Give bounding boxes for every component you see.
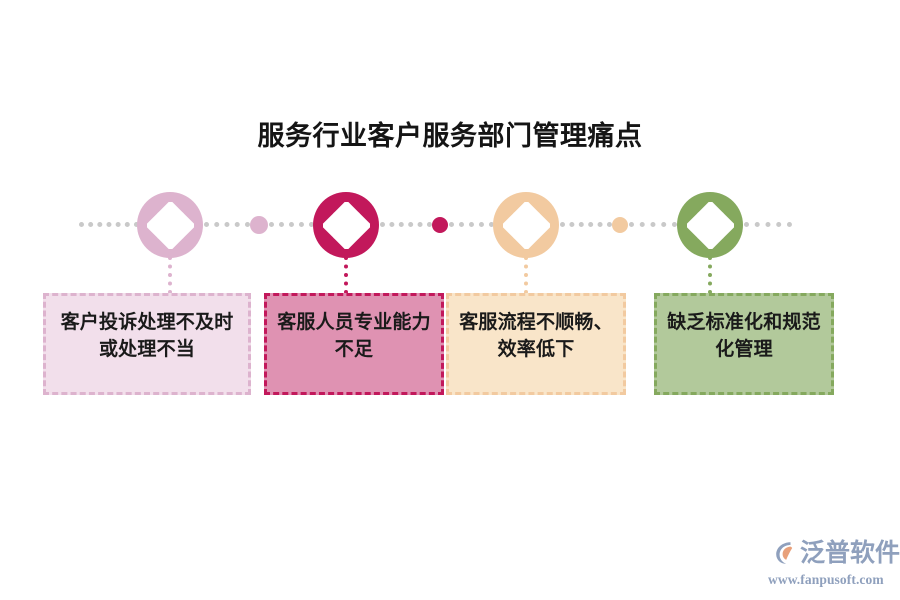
- timeline-connector-dot-1: [250, 216, 268, 234]
- pain-point-card-4[interactable]: 缺乏标准化和规范化管理: [654, 293, 834, 395]
- drop-connector-2: [344, 256, 348, 294]
- drop-connector-3: [524, 256, 528, 294]
- pain-point-label-2: 客服人员专业能力不足: [267, 310, 441, 364]
- timeline-rail-segment: [269, 222, 314, 227]
- timeline-node-4[interactable]: [677, 192, 743, 258]
- brand-url: www.fanpusoft.com: [768, 572, 890, 588]
- drop-connector-1: [168, 256, 172, 294]
- timeline-node-3[interactable]: [493, 192, 559, 258]
- pain-point-card-2[interactable]: 客服人员专业能力不足: [264, 293, 444, 395]
- timeline-rail-segment: [79, 222, 139, 227]
- pain-point-card-3[interactable]: 客服流程不顺畅、效率低下: [446, 293, 626, 395]
- four-diamond-icon: [147, 202, 194, 249]
- brand-logo-row: 泛普软件: [768, 536, 890, 570]
- pain-point-card-1[interactable]: 客户投诉处理不及时或处理不当: [43, 293, 251, 395]
- pain-point-label-4: 缺乏标准化和规范化管理: [657, 310, 831, 364]
- timeline-rail-segment: [560, 222, 612, 227]
- fanpu-c-mark-icon: [768, 538, 798, 568]
- timeline-rail-segment: [449, 222, 494, 227]
- brand-wordmark: 泛普软件: [800, 541, 900, 566]
- drop-connector-4: [708, 256, 712, 294]
- timeline-rail-segment: [204, 222, 250, 227]
- timeline-rail-segment: [629, 222, 677, 227]
- brand-logo[interactable]: 泛普软件 www.fanpusoft.com: [768, 536, 890, 588]
- pain-point-label-3: 客服流程不顺畅、效率低下: [449, 310, 623, 364]
- timeline-node-1[interactable]: [137, 192, 203, 258]
- four-diamond-icon: [687, 202, 734, 249]
- timeline-node-2[interactable]: [313, 192, 379, 258]
- infographic-canvas: 服务行业客户服务部门管理痛点 客户投诉处理不及时或处理不当 客服人员专业能力不足…: [0, 0, 900, 600]
- timeline-connector-dot-2: [432, 217, 448, 233]
- four-diamond-icon: [503, 202, 550, 249]
- pain-point-label-1: 客户投诉处理不及时或处理不当: [46, 310, 248, 364]
- page-title: 服务行业客户服务部门管理痛点: [0, 120, 900, 152]
- timeline-rail-segment: [380, 222, 432, 227]
- timeline-connector-dot-3: [612, 217, 628, 233]
- timeline-rail-segment: [744, 222, 792, 227]
- four-diamond-icon: [323, 202, 370, 249]
